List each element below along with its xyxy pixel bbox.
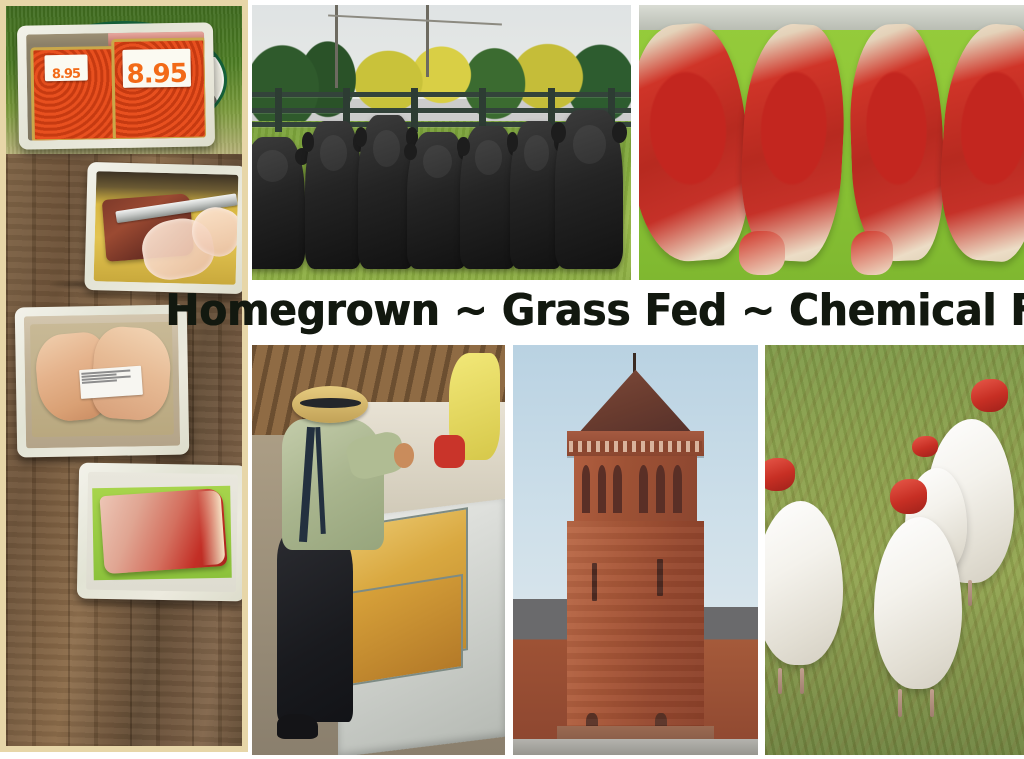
cow-ear: [507, 132, 519, 151]
arched-window: [673, 465, 682, 512]
farm-collage-poster: Country Meadows Farms, LLC: [0, 0, 1024, 759]
price-value-right: 8.95: [126, 61, 187, 88]
tagline-banner: Homegrown ~ Grass Fed ~ Chemical Free: [252, 280, 1024, 342]
narrow-window: [592, 563, 597, 600]
fat-cap: [198, 489, 225, 565]
tower-shaft: [567, 521, 704, 755]
photo-market-stand-vendor: [252, 345, 505, 755]
beef-slab-scene: [86, 472, 238, 593]
photo-ribeye-steaks: [639, 5, 1024, 280]
left-column-inner: Country Meadows Farms, LLC: [6, 6, 242, 746]
vendor-shoe: [277, 714, 317, 739]
packaged-poultry-scene: [24, 314, 180, 449]
cow-7: [555, 110, 623, 270]
photo-ground-beef-trays: 8.95 8.95: [17, 22, 215, 149]
cow-1: [252, 137, 305, 269]
arched-window: [656, 465, 665, 512]
turkey-leg: [968, 580, 972, 606]
cow-2: [305, 121, 362, 270]
arched-window: [582, 465, 591, 512]
photo-slicing-meat: [84, 162, 242, 294]
arched-window: [598, 465, 607, 512]
turkey-head: [912, 436, 938, 457]
price-tag-right: 8.95: [122, 49, 190, 88]
photo-white-turkeys: [765, 345, 1024, 755]
slicing-scene: [94, 171, 239, 285]
cow-ear: [302, 132, 315, 151]
sidewalk: [513, 739, 758, 755]
turkey-head: [971, 379, 1008, 412]
fence-post: [479, 88, 486, 132]
red-display-item: [434, 435, 464, 468]
product-label: [80, 366, 143, 399]
ground-beef-scene: 8.95 8.95: [26, 31, 206, 140]
cow-ear: [404, 143, 417, 161]
turkey-leg: [800, 668, 804, 694]
photo-black-angus-cattle: [252, 5, 631, 280]
left-column-bottom-fill: [0, 752, 248, 759]
corbel-band: [569, 441, 701, 452]
vendor-trousers: [277, 534, 353, 723]
steak-trim-1: [739, 231, 785, 275]
fence-post: [275, 88, 282, 132]
turkey-leg: [778, 668, 782, 694]
cow-ear: [355, 127, 368, 147]
gallery-grid: Homegrown ~ Grass Fed ~ Chemical Free: [252, 0, 1024, 759]
arched-window: [639, 465, 648, 512]
turkey-2: [874, 517, 962, 689]
belfry-level: [574, 456, 697, 526]
photo-beef-slab: [77, 463, 242, 602]
steak-trim-2: [851, 231, 893, 275]
turkey-leg: [898, 689, 902, 717]
left-photo-column: Country Meadows Farms, LLC: [0, 0, 248, 752]
beef-slab: [99, 488, 227, 574]
arched-window: [613, 465, 622, 512]
fence-rail: [252, 92, 631, 97]
tagline-text: Homegrown ~ Grass Fed ~ Chemical Free: [166, 289, 1024, 333]
turkey-head: [765, 458, 795, 491]
photo-brick-market-tower: [513, 345, 758, 755]
utility-pole: [426, 5, 429, 77]
price-tag-left: 8.95: [44, 55, 87, 81]
vendor-hand: [394, 443, 414, 468]
cow-ear: [551, 122, 566, 143]
utility-pole: [335, 5, 338, 88]
photo-vacuum-packed-poultry: [15, 305, 190, 458]
cow-ear: [457, 137, 470, 156]
price-value-left: 8.95: [52, 67, 80, 80]
display-glass-lower: [348, 574, 463, 686]
narrow-window: [657, 559, 662, 596]
turkey-leg: [930, 689, 934, 717]
fence-post: [411, 88, 418, 132]
turkey-head: [890, 479, 927, 513]
